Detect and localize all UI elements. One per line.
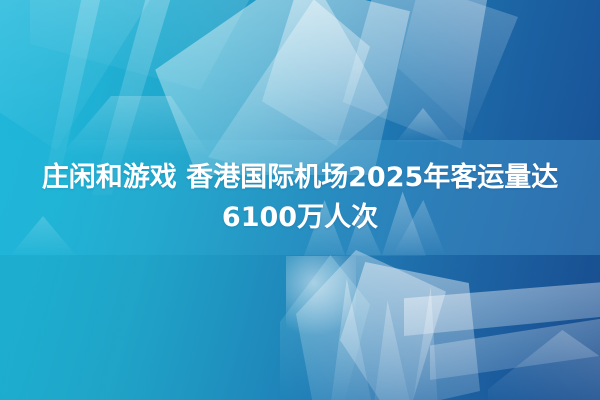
decorative-facet-bottom-b <box>340 262 480 400</box>
decorative-facet-bottom-right-wedge <box>488 330 600 400</box>
decorative-facet-left-wedge <box>0 0 150 150</box>
banner-headline: 庄闲和游戏 香港国际机场2025年客运量达6100万人次 <box>0 158 600 238</box>
decorative-facet-bottom-glow <box>286 256 356 346</box>
decorative-facet-mid-left-triangle <box>60 96 210 156</box>
decorative-facet-top-right-b <box>398 0 518 134</box>
decorative-facet-right-triangle <box>396 108 450 142</box>
background-band-upper <box>0 0 600 140</box>
decorative-facet-center-small <box>250 0 370 146</box>
news-banner: 庄闲和游戏 香港国际机场2025年客运量达6100万人次 <box>0 0 600 400</box>
decorative-facet-top-left <box>30 0 260 90</box>
decorative-facet-bottom-band-a <box>404 282 600 336</box>
decorative-facet-bottom-zigzag <box>318 270 438 400</box>
decorative-facet-top-right-a <box>330 0 490 156</box>
decorative-facet-bottom-a <box>296 250 446 400</box>
background-band-lower <box>0 255 600 400</box>
decorative-facet-center-spike <box>196 0 396 180</box>
decorative-facet-bottom-band-b <box>430 316 600 380</box>
decorative-facet-bottom-teal-edge <box>280 255 370 400</box>
decorative-facet-center-large <box>150 0 410 175</box>
